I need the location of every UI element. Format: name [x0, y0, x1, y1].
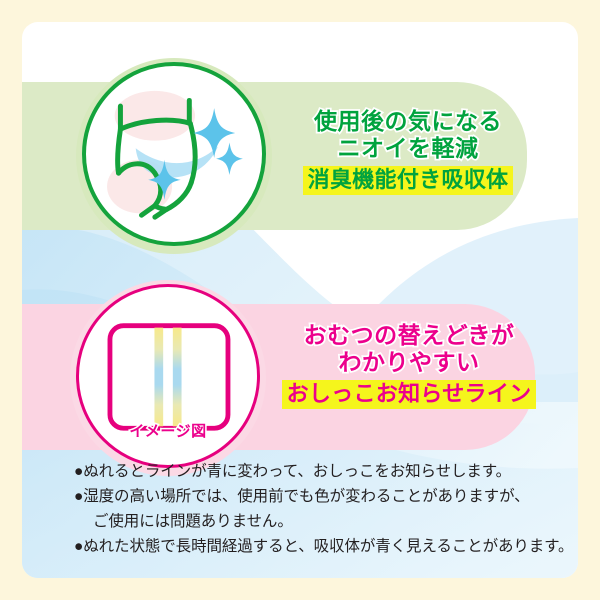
advertisement-panel: 使用後の気になる ニオイを軽減 消臭機能付き吸収体: [0, 0, 600, 600]
note-line-2: ●湿度の高い場所では、使用前でも色が変わることがありますが、: [74, 484, 544, 509]
note-line-4: ●ぬれた状態で長時間経過すると、吸収体が青く見えることがあります。: [74, 534, 544, 559]
odor-headline-line-2: ニオイを軽減: [278, 135, 538, 162]
image-diagram-caption: イメージ図: [76, 420, 260, 441]
note-line-3: ご使用には問題ありません。: [74, 509, 544, 534]
odor-headline-line-1: 使用後の気になる: [278, 108, 538, 135]
odor-headline: 使用後の気になる ニオイを軽減 消臭機能付き吸収体: [278, 108, 538, 195]
note-line-1: ●ぬれるとラインが青に変わって、おしっこをお知らせします。: [74, 459, 544, 484]
wetness-headline-line-1: おむつの替えどきが: [274, 322, 544, 349]
wetness-headline-line-2: わかりやすい: [274, 349, 544, 376]
wetness-headline: おむつの替えどきが わかりやすい おしっこお知らせライン: [274, 322, 544, 409]
notes-list: ●ぬれるとラインが青に変わって、おしっこをお知らせします。 ●湿度の高い場所では…: [74, 459, 544, 559]
content-card: 使用後の気になる ニオイを軽減 消臭機能付き吸収体: [22, 22, 578, 578]
odor-badge: 消臭機能付き吸収体: [303, 166, 514, 195]
diaper-sparkle-icon: [82, 62, 266, 246]
diaper-sparkle-illustration: [86, 66, 262, 242]
wetness-badge: おしっこお知らせライン: [282, 380, 537, 409]
